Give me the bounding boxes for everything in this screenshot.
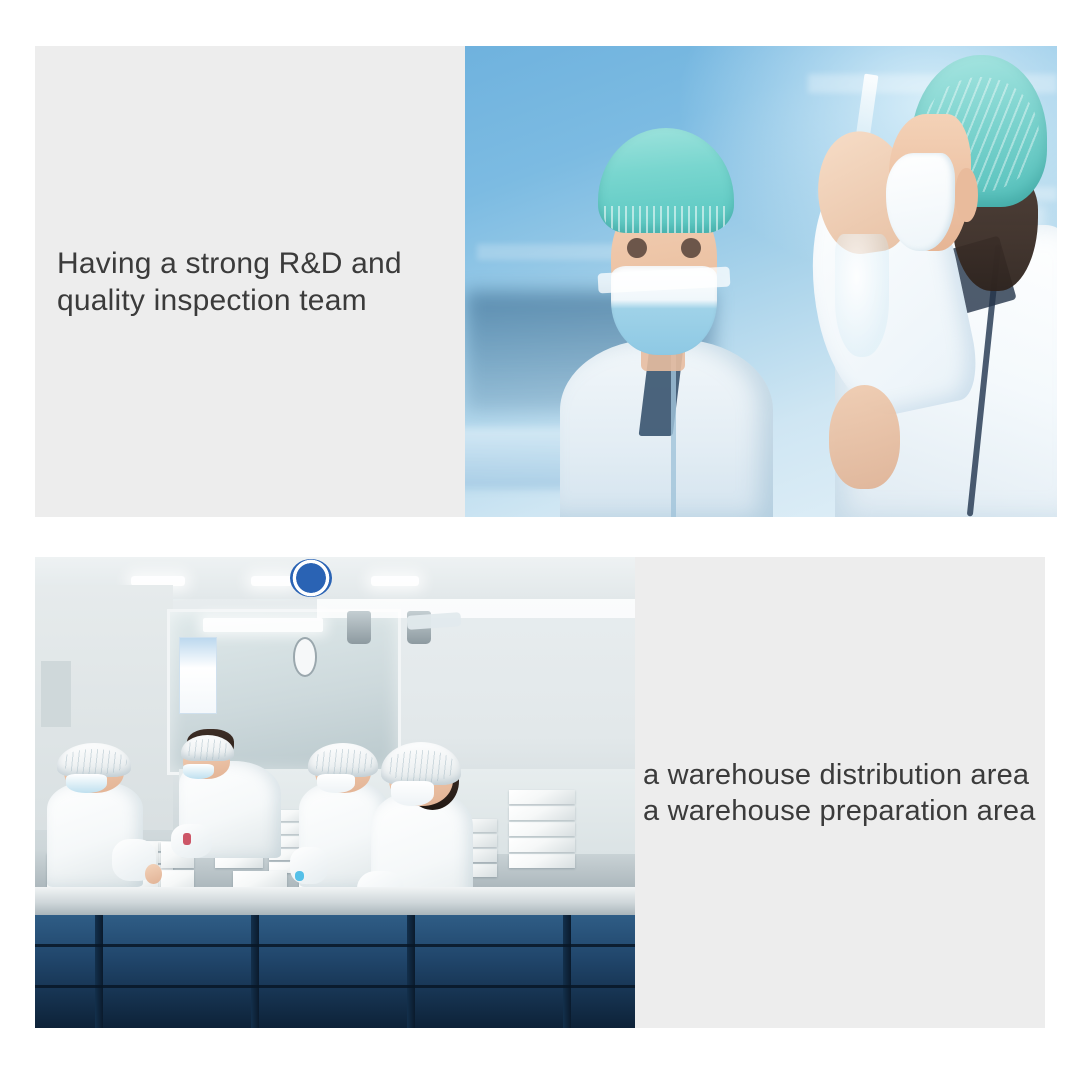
carton (509, 790, 575, 804)
wall-notice (179, 637, 217, 714)
ceiling-light (251, 576, 293, 586)
stainless-container (347, 611, 371, 644)
carton-stack (509, 790, 575, 868)
face-mask (391, 781, 434, 806)
carton (509, 854, 575, 868)
table-rail (35, 944, 635, 946)
blue-circular-sign (290, 559, 332, 597)
lab-quality-inspection-photo (465, 46, 1057, 517)
ear (955, 168, 977, 222)
table-leg (563, 915, 571, 1028)
caption-line-1: Having a strong R&D and (57, 245, 455, 282)
blue-glove (295, 871, 303, 881)
table-underside (35, 915, 635, 1028)
hairnet-cap (57, 743, 132, 777)
page-root: Having a strong R&D and quality inspecti… (0, 0, 1080, 1080)
wall-clock (293, 637, 317, 677)
packing-worker (47, 745, 143, 886)
caption-panel-warehouse: a warehouse distribution area a warehous… (635, 557, 1045, 1028)
warehouse-packing-photo (35, 557, 635, 1028)
caption-panel-rnd: Having a strong R&D and quality inspecti… (35, 46, 465, 517)
caption-line-2: quality inspection team (57, 282, 455, 319)
caption-line-2: a warehouse preparation area (643, 793, 1037, 829)
glass-beaker (835, 234, 889, 356)
carton (509, 806, 575, 820)
face-mask (317, 774, 355, 794)
eyes (626, 238, 703, 258)
carton (509, 838, 575, 852)
table-rail (35, 985, 635, 987)
section-warehouse-areas: a warehouse distribution area a warehous… (35, 557, 1045, 1028)
section-rnd-quality: Having a strong R&D and quality inspecti… (35, 46, 1057, 517)
stainless-table-top (35, 887, 635, 915)
packing-worker (179, 727, 281, 859)
red-item (183, 833, 191, 845)
hand (145, 864, 162, 884)
table-leg (407, 915, 415, 1028)
eye-right (681, 238, 701, 258)
face-mask (183, 764, 214, 780)
window-light (203, 618, 323, 632)
lab-technician-front (560, 112, 773, 517)
arm (171, 824, 212, 858)
table-leg (251, 915, 259, 1028)
ceiling-light (371, 576, 419, 586)
caption-line-1: a warehouse distribution area (643, 757, 1037, 793)
hairnet-cap (598, 128, 734, 233)
hairnet-cap (308, 743, 378, 777)
lab-coat-lapel (671, 347, 676, 517)
extractor-hood (407, 612, 462, 630)
wall-panel (41, 661, 71, 727)
carton (509, 822, 575, 836)
head (889, 55, 1047, 300)
hairnet-cap (381, 742, 461, 785)
eye-left (627, 238, 647, 258)
lab-technician-profile (797, 46, 1057, 517)
table-leg (95, 915, 103, 1028)
face-mask (66, 774, 106, 794)
hand-lower (829, 385, 900, 489)
